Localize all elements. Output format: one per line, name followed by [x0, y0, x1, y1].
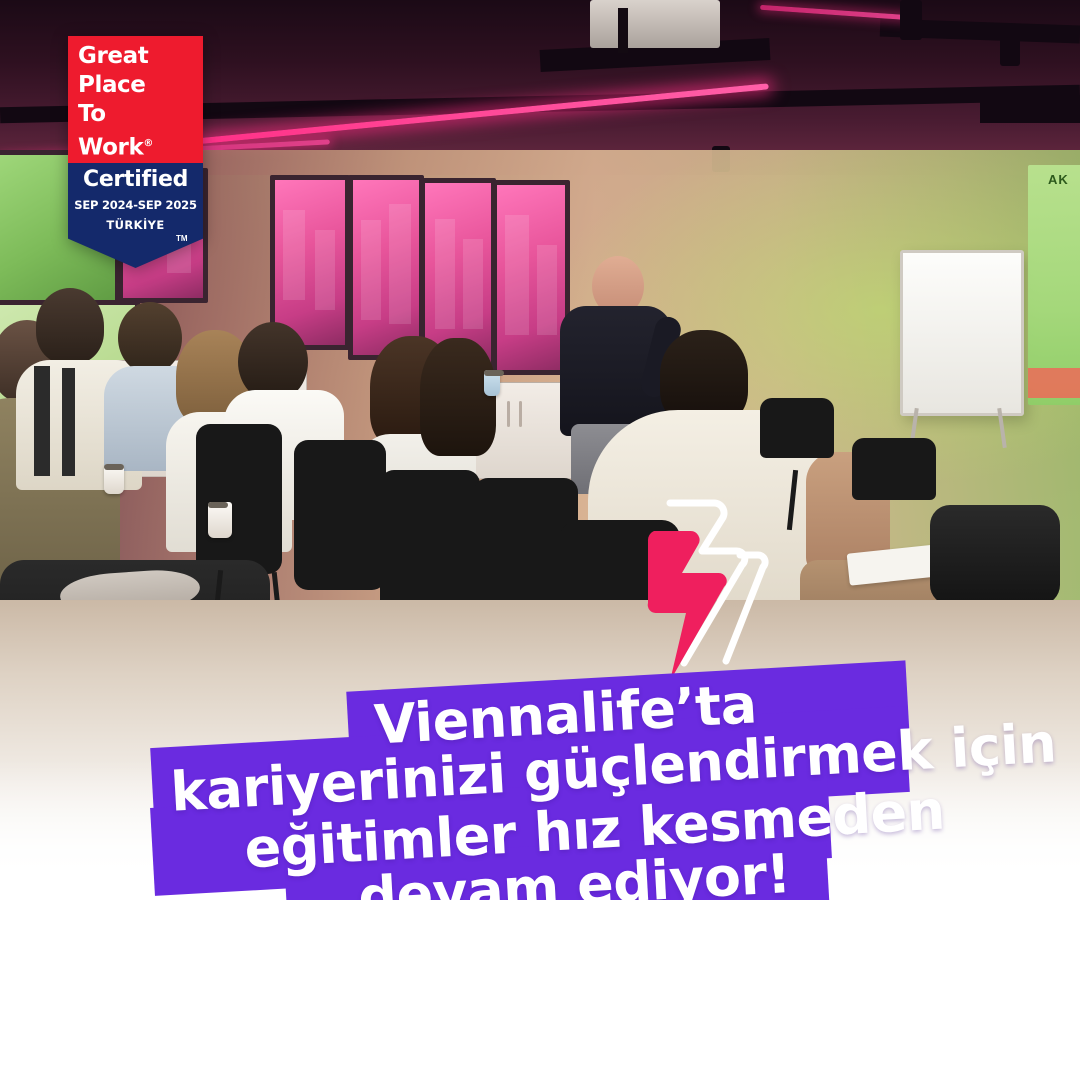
- badge-line-4-wrap: Work®: [78, 129, 153, 163]
- projector-mount: [618, 8, 628, 53]
- window-3: [348, 175, 424, 360]
- attendee-shirt-stripe-2: [62, 368, 75, 476]
- chair-left-2: [294, 440, 386, 590]
- chair-left-3: [380, 470, 480, 620]
- post-canvas: AK: [0, 0, 1080, 1080]
- great-place-to-work-certified-badge: Great Place To Work® Certified SEP 2024-…: [68, 36, 203, 268]
- badge-line-3: To: [78, 100, 153, 129]
- ceiling-projector: [590, 0, 720, 48]
- flipchart-whiteboard: [900, 250, 1024, 416]
- ceiling-beam-4: [980, 95, 1080, 123]
- coffee-cup-2: [208, 502, 232, 538]
- badge-country: TÜRKİYE: [68, 218, 203, 232]
- attendee-head-7: [420, 338, 496, 456]
- badge-certified-label: Certified: [68, 167, 203, 192]
- lightning-bolt-graphic: [640, 495, 820, 695]
- badge-red-text: Great Place To Work®: [78, 42, 153, 163]
- bolt-outline-right: [726, 555, 765, 661]
- attendee-head-2: [36, 288, 104, 364]
- wall-poster-footer: [1028, 368, 1080, 398]
- ceiling-spot: [900, 0, 922, 40]
- badge-line-4: Work: [78, 135, 143, 161]
- trademark-mark-icon: TM: [176, 234, 188, 243]
- floor-white-fade: [0, 760, 1080, 900]
- chair-right-front: [930, 505, 1060, 605]
- footer-bar: aradığın iş burada Viennalife: [0, 900, 1080, 1080]
- attendee-shirt-stripe: [34, 366, 50, 476]
- coffee-cup-1: [104, 464, 124, 494]
- badge-dates: SEP 2024-SEP 2025: [68, 198, 203, 212]
- badge-line-1: Great: [78, 42, 153, 71]
- window-5: [492, 180, 570, 375]
- attendee-head-3: [118, 302, 182, 374]
- wall-poster-text: AK: [1048, 172, 1069, 187]
- chair-back-right-2: [852, 438, 936, 500]
- badge-line-2: Place: [78, 71, 153, 100]
- registered-mark-icon: ®: [143, 138, 153, 149]
- chair-left-1: [196, 424, 282, 574]
- chair-back-right: [760, 398, 834, 458]
- ceiling-spot-2: [1000, 30, 1020, 66]
- water-bottle: [484, 370, 500, 396]
